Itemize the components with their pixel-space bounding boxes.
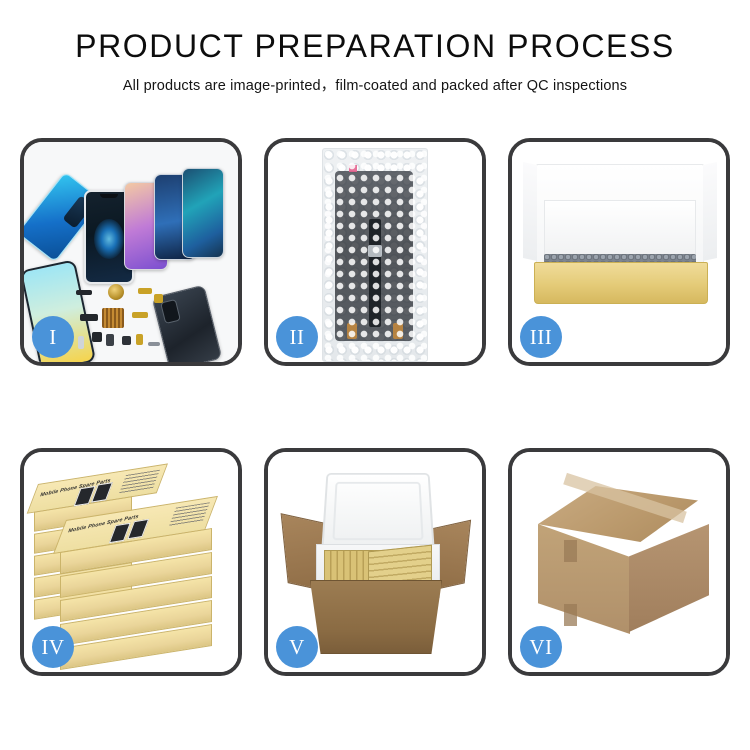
- process-step-grid: I II III: [0, 138, 750, 676]
- phone-screen-teal: [182, 168, 224, 258]
- process-step-2[interactable]: II: [264, 138, 486, 366]
- sealed-carton: [528, 486, 714, 636]
- mailer-box-body: [534, 262, 708, 304]
- step-badge: IV: [32, 626, 74, 668]
- process-step-1[interactable]: I: [20, 138, 242, 366]
- page-title: PRODUCT PREPARATION PROCESS: [0, 30, 750, 64]
- process-step-5[interactable]: V: [264, 448, 486, 676]
- process-step-4[interactable]: Mobile Phone Spare Parts Mobile Phone Sp…: [20, 448, 242, 676]
- page-subtitle: All products are image-printed，film-coat…: [0, 74, 750, 95]
- process-step-6[interactable]: VI: [508, 448, 730, 676]
- process-step-3[interactable]: III: [508, 138, 730, 366]
- step-badge: II: [276, 316, 318, 358]
- foam-pad: [544, 200, 696, 260]
- step-badge: III: [520, 316, 562, 358]
- step-badge: I: [32, 316, 74, 358]
- foam-lid: [321, 473, 434, 551]
- carton-body: [310, 580, 442, 654]
- header: PRODUCT PREPARATION PROCESS All products…: [0, 0, 750, 95]
- step-badge: V: [276, 626, 318, 668]
- spare-parts-group: [76, 284, 186, 356]
- step-badge: VI: [520, 626, 562, 668]
- bubble-wrap-bag: [322, 148, 428, 362]
